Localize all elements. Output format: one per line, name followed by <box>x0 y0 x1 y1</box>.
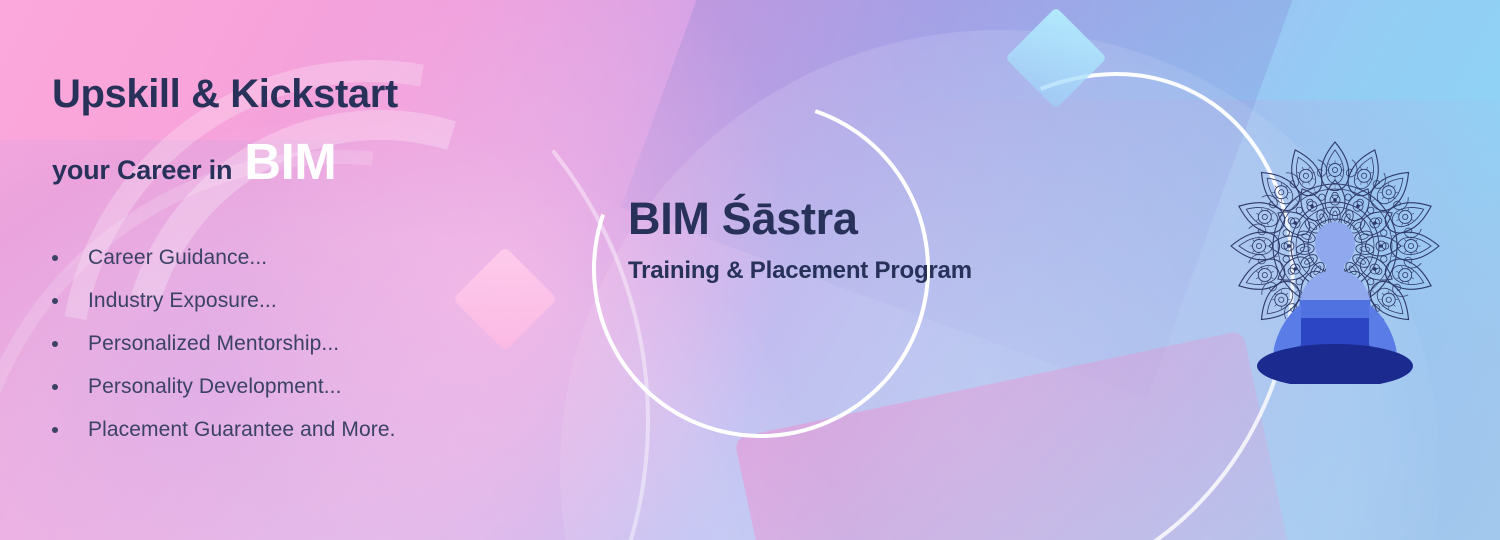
list-item-label: Personalized Mentorship... <box>88 332 339 356</box>
list-item-label: Placement Guarantee and More. <box>88 418 396 442</box>
list-item: Career Guidance... <box>52 236 572 279</box>
headline-bim-highlight: BIM <box>244 140 336 183</box>
brand-block: BIM Śāstra Training & Placement Program <box>628 196 1058 283</box>
list-item: Placement Guarantee and More. <box>52 408 572 451</box>
list-item-label: Personality Development... <box>88 375 342 399</box>
brand-subtitle: Training & Placement Program <box>628 259 1058 283</box>
meditation-figure-icon <box>1202 118 1468 384</box>
list-item: Industry Exposure... <box>52 279 572 322</box>
bullet-dot-icon <box>52 427 58 433</box>
headline-line-1: Upskill & Kickstart <box>52 74 572 114</box>
headline-line-2-prefix: your Career in <box>52 157 232 184</box>
feature-bullet-list: Career Guidance... Industry Exposure... … <box>52 236 572 451</box>
bullet-dot-icon <box>52 341 58 347</box>
brand-title: BIM Śāstra <box>628 196 1058 241</box>
list-item-label: Industry Exposure... <box>88 289 277 313</box>
promo-banner: Upskill & Kickstart your Career in BIM C… <box>0 0 1500 540</box>
bullet-dot-icon <box>52 384 58 390</box>
figure-silhouette <box>1257 222 1413 384</box>
list-item: Personality Development... <box>52 365 572 408</box>
headline-block: Upskill & Kickstart your Career in BIM C… <box>52 74 572 451</box>
list-item-label: Career Guidance... <box>88 246 267 270</box>
headline-line-2: your Career in BIM <box>52 140 572 184</box>
bullet-dot-icon <box>52 298 58 304</box>
bullet-dot-icon <box>52 255 58 261</box>
list-item: Personalized Mentorship... <box>52 322 572 365</box>
